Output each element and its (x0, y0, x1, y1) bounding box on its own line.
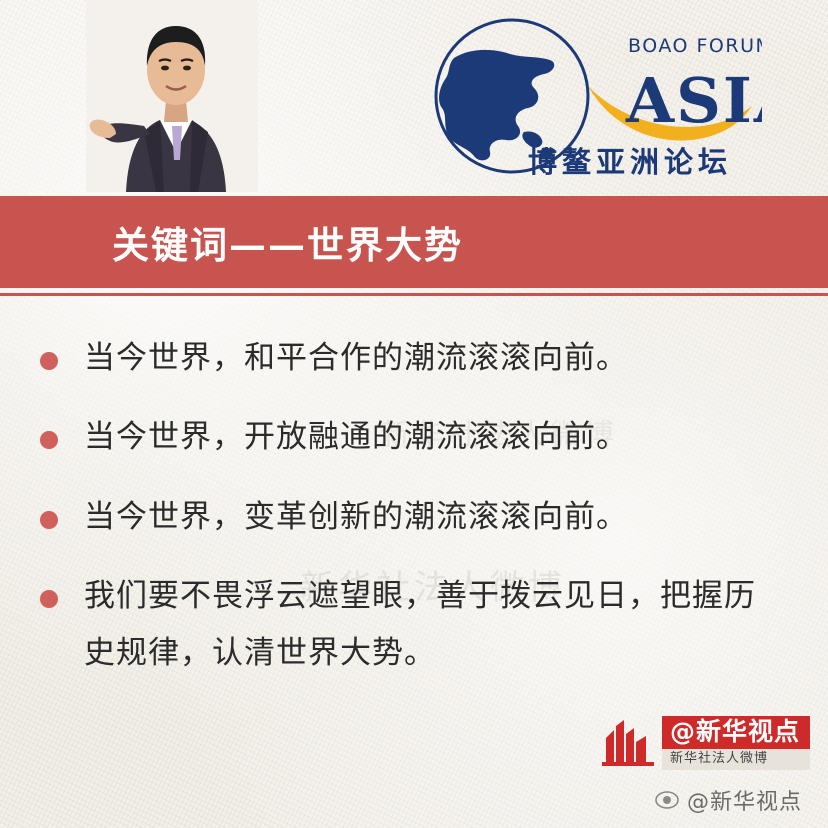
list-item: 当今世界，和平合作的潮流滚滚向前。 (0, 330, 828, 387)
list-item-text: 当今世界，开放融通的潮流滚滚向前。 (84, 409, 628, 466)
list-item-text: 我们要不畏浮云遮望眼，善于拨云见日，把握历史规律，认清世界大势。 (84, 568, 774, 683)
svg-text:BOAO FORUM FOR: BOAO FORUM FOR (628, 35, 762, 57)
list-item: 当今世界，变革创新的潮流滚滚向前。 (0, 489, 828, 546)
svg-text:ASIA: ASIA (625, 64, 762, 137)
bullet-dot-icon (40, 431, 58, 449)
list-item-text: 当今世界，和平合作的潮流滚滚向前。 (84, 330, 628, 387)
weibo-eye-icon (655, 788, 679, 812)
weibo-handle-row[interactable]: @新华视点 (655, 784, 802, 816)
brand-subtitle: 新华社法人微博 (662, 749, 810, 770)
bullet-dot-icon (40, 590, 58, 608)
poster-page: BOAO FORUM FOR ASIA 博鳌亚洲论坛 关键词——世界大势 新华社… (0, 0, 828, 828)
portrait-photo (86, 0, 258, 192)
header: BOAO FORUM FOR ASIA 博鳌亚洲论坛 (0, 0, 828, 196)
list-item: 我们要不畏浮云遮望眼，善于拨云见日，把握历史规律，认清世界大势。 (0, 568, 828, 683)
svg-text:博鳌亚洲论坛: 博鳌亚洲论坛 (528, 145, 732, 179)
list-item: 当今世界，开放融通的潮流滚滚向前。 (0, 409, 828, 466)
title-band-rule (0, 293, 828, 296)
brand-name: @新华视点 (662, 716, 810, 750)
bullet-list: 当今世界，和平合作的潮流滚滚向前。 当今世界，开放融通的潮流滚滚向前。 当今世界… (0, 330, 828, 705)
footer-brand: @新华视点 新华社法人微博 (600, 716, 810, 770)
list-item-text: 当今世界，变革创新的潮流滚滚向前。 (84, 489, 628, 546)
page-title: 关键词——世界大势 (112, 215, 463, 269)
brand-text-block: @新华视点 新华社法人微博 (662, 716, 810, 770)
bullet-dot-icon (40, 511, 58, 529)
xinhua-mark-icon (600, 720, 656, 766)
bullet-dot-icon (40, 352, 58, 370)
weibo-handle: @新华视点 (687, 784, 802, 816)
boao-forum-logo: BOAO FORUM FOR ASIA 博鳌亚洲论坛 (392, 14, 762, 186)
title-band: 关键词——世界大势 (0, 196, 828, 288)
